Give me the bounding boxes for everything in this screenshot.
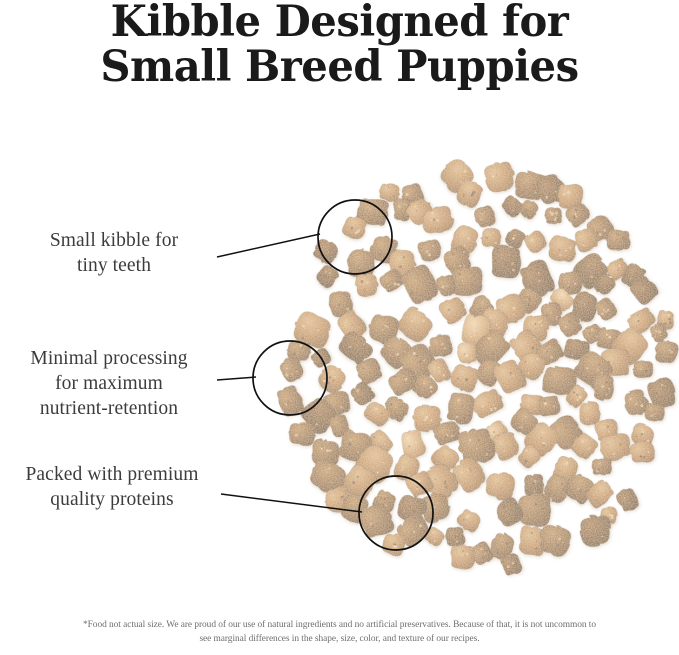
callout-label-minimal-processing: Minimal processing for maximum nutrient-… <box>0 346 218 421</box>
callout-leader-line-1 <box>217 234 320 257</box>
callout-circle-3 <box>359 476 433 550</box>
callout-1-line-1: Small kibble for <box>8 228 220 253</box>
callout-3-line-1: Packed with premium <box>0 462 224 487</box>
callout-leader-line-3 <box>221 494 362 512</box>
callout-3-line-2: quality proteins <box>0 487 224 512</box>
callout-label-premium-proteins: Packed with premium quality proteins <box>0 462 224 512</box>
callout-leader-line-2 <box>217 377 256 380</box>
callout-1-line-2: tiny teeth <box>8 253 220 278</box>
footnote-line-1: *Food not actual size. We are proud of o… <box>0 618 679 632</box>
callout-2-line-3: nutrient-retention <box>0 396 218 421</box>
callout-circle-2 <box>253 341 327 415</box>
callout-2-line-1: Minimal processing <box>0 346 218 371</box>
footnote-disclaimer: *Food not actual size. We are proud of o… <box>0 618 679 646</box>
infographic-canvas: Kibble Designed for Small Breed Puppies <box>0 0 679 655</box>
footnote-line-2: see marginal differences in the shape, s… <box>0 632 679 646</box>
callout-circle-1 <box>318 200 392 274</box>
callout-2-line-2: for maximum <box>0 371 218 396</box>
callout-overlay <box>0 0 679 655</box>
callout-label-small-kibble: Small kibble for tiny teeth <box>8 228 220 278</box>
